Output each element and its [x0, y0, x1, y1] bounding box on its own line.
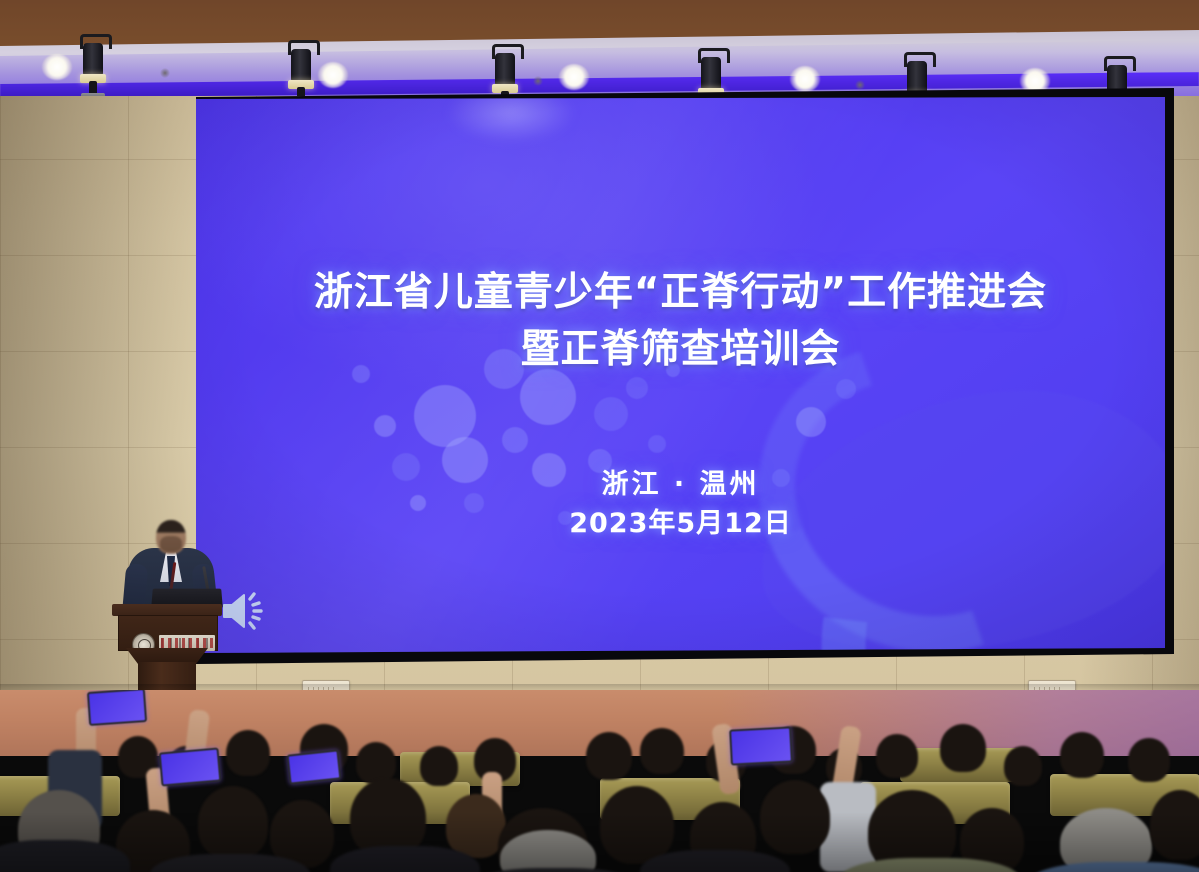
audience-head	[600, 786, 674, 864]
slide-date: 2023年5月12日	[196, 501, 1165, 540]
ceiling-downlight	[790, 66, 820, 92]
audience-head	[876, 734, 918, 778]
audience-torso	[470, 868, 640, 872]
audience-head	[640, 728, 684, 774]
audience-area	[0, 690, 1199, 872]
audience-head	[226, 730, 270, 776]
stage-spotlight	[76, 34, 110, 100]
audience-head	[586, 732, 632, 780]
ceiling-downlight	[559, 64, 589, 90]
audience-head	[1128, 738, 1170, 782]
slide-subtitle: 浙江 · 温州	[196, 462, 1165, 501]
conference-hall-scene: 浙江省儿童青少年“正脊行动”工作推进会 暨正脊筛查培训会 浙江 · 温州 202…	[0, 0, 1199, 872]
audience-head	[1150, 790, 1199, 860]
slide-bubble	[374, 415, 396, 437]
ceiling-downlight	[318, 62, 348, 88]
ceiling-sensor	[160, 68, 170, 78]
slide-bubble	[594, 397, 628, 431]
smartphone	[729, 726, 793, 765]
audience-torso	[640, 850, 790, 872]
slide-bubble	[836, 379, 856, 399]
slide-bubble	[502, 427, 528, 453]
audience-head	[760, 780, 830, 854]
audience-head	[1004, 746, 1042, 786]
audience-torso	[1030, 862, 1199, 872]
audience-torso	[0, 840, 130, 872]
smartphone	[159, 747, 222, 786]
screen-hotspot	[446, 97, 576, 143]
audience-head	[198, 786, 268, 860]
smartphone	[87, 690, 147, 726]
slide-title: 浙江省儿童青少年“正脊行动”工作推进会 暨正脊筛查培训会	[196, 265, 1165, 378]
projection-screen[interactable]: 浙江省儿童青少年“正脊行动”工作推进会 暨正脊筛查培训会 浙江 · 温州 202…	[196, 97, 1165, 653]
audience-head	[1060, 732, 1104, 778]
audience-head	[446, 794, 506, 858]
ceiling-sensor	[855, 80, 865, 90]
speaker-audio-icon[interactable]	[220, 589, 272, 633]
audience-head	[940, 724, 986, 772]
ceiling-sensor	[533, 76, 543, 86]
ceiling-downlight	[42, 54, 72, 80]
slide-bubble	[626, 377, 648, 399]
slide-bubble	[648, 435, 666, 453]
audience-head	[420, 746, 458, 786]
slide-bubble	[796, 407, 826, 437]
smartphone	[287, 749, 342, 784]
